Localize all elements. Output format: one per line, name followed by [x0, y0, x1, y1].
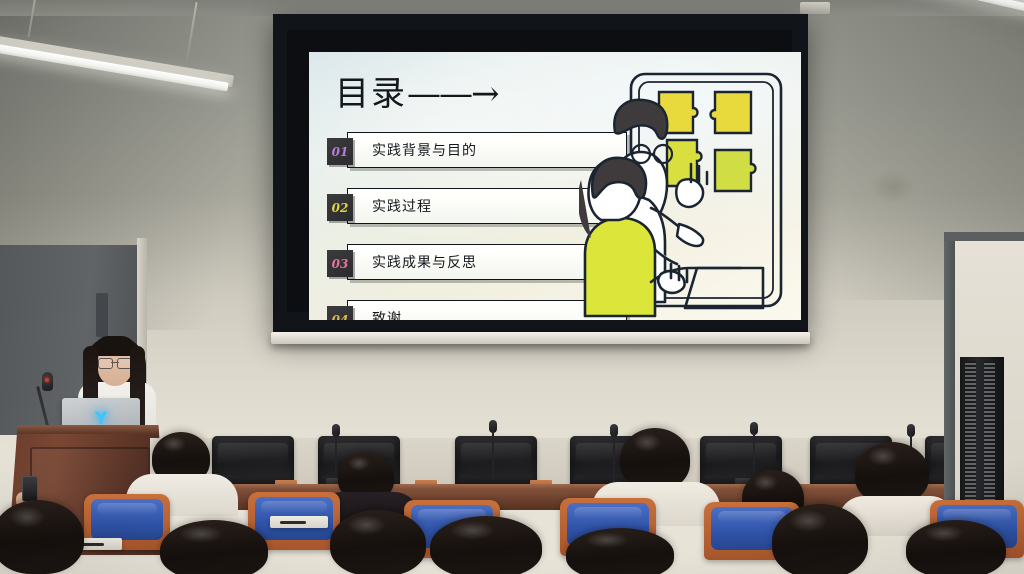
hair-highlight: [162, 436, 185, 452]
lecture-hall-photo: 目录——→ 实践背景与目的 01 实践过程: [0, 0, 1024, 574]
hair-highlight: [347, 515, 385, 535]
folding-tablet-desk[interactable]: [270, 516, 328, 528]
screen-weight-bar: [271, 332, 810, 344]
smartphone[interactable]: [22, 476, 38, 502]
right-doorway[interactable]: [944, 232, 1024, 532]
audience-head: [772, 504, 868, 574]
toc-item-label: 实践过程: [348, 196, 432, 216]
door-jamb-left: [944, 232, 955, 532]
podium-top-edge: [2, 425, 174, 434]
slide-title-arrow-icon: ——→: [407, 74, 498, 114]
audience-head: [855, 442, 929, 504]
desk-microphone[interactable]: [608, 424, 620, 484]
hair-highlight: [789, 510, 827, 532]
seat-cushion: [91, 499, 163, 540]
microphone-stem: [613, 432, 615, 484]
audience-head: [430, 516, 542, 574]
toc-number: 04: [332, 313, 349, 321]
hair-highlight: [9, 506, 46, 528]
hair-highlight: [585, 532, 628, 548]
hair-highlight: [179, 525, 222, 543]
audience-head: [906, 520, 1006, 574]
audience-head: [160, 520, 268, 574]
hair-highlight: [868, 447, 898, 466]
toc-number: 02: [332, 201, 349, 215]
hair-highlight: [924, 525, 964, 542]
rack-mesh-panel: [965, 361, 976, 521]
glasses-lens-left: [98, 358, 113, 369]
door-jamb-top: [944, 232, 1024, 241]
glasses-bridge: [111, 362, 119, 363]
toc-item-label: 实践成果与反思: [348, 252, 477, 272]
toc-number-badge: 02: [327, 194, 353, 221]
toc-number-badge: 04: [327, 306, 353, 320]
toc-number-badge: 01: [327, 138, 353, 165]
ceiling-mount-box: [800, 2, 830, 14]
audience-head: [330, 510, 426, 574]
wall-smudge: [870, 170, 916, 204]
projection-screen: 目录——→ 实践背景与目的 01 实践过程: [273, 14, 808, 336]
glasses-icon: [98, 358, 132, 367]
audience-head: [620, 428, 690, 490]
slide-illustration-icon: [579, 68, 794, 318]
desk-microphone[interactable]: [487, 420, 499, 480]
toc-item-label: 致谢: [348, 308, 402, 320]
microphone-head-icon: [42, 372, 53, 391]
slide-title: 目录——→: [335, 66, 498, 115]
hair-highlight: [450, 521, 495, 540]
toc-number: 03: [332, 257, 349, 271]
presentation-slide: 目录——→ 实践背景与目的 01 实践过程: [309, 52, 801, 320]
toc-item-label: 实践背景与目的: [348, 140, 477, 160]
microphone-stem: [492, 428, 494, 480]
pen-icon: [280, 521, 306, 524]
rack-mesh-panel: [984, 361, 995, 521]
light-tube: [903, 0, 1024, 19]
hair-highlight: [633, 433, 661, 452]
audience-head: [566, 528, 674, 574]
audience-head: [0, 500, 84, 574]
screen-inner-frame: 目录——→ 实践背景与目的 01 实践过程: [287, 30, 792, 312]
toc-number-badge: 03: [327, 250, 353, 277]
toc-number: 01: [332, 145, 349, 159]
slide-title-text: 目录: [335, 74, 407, 114]
